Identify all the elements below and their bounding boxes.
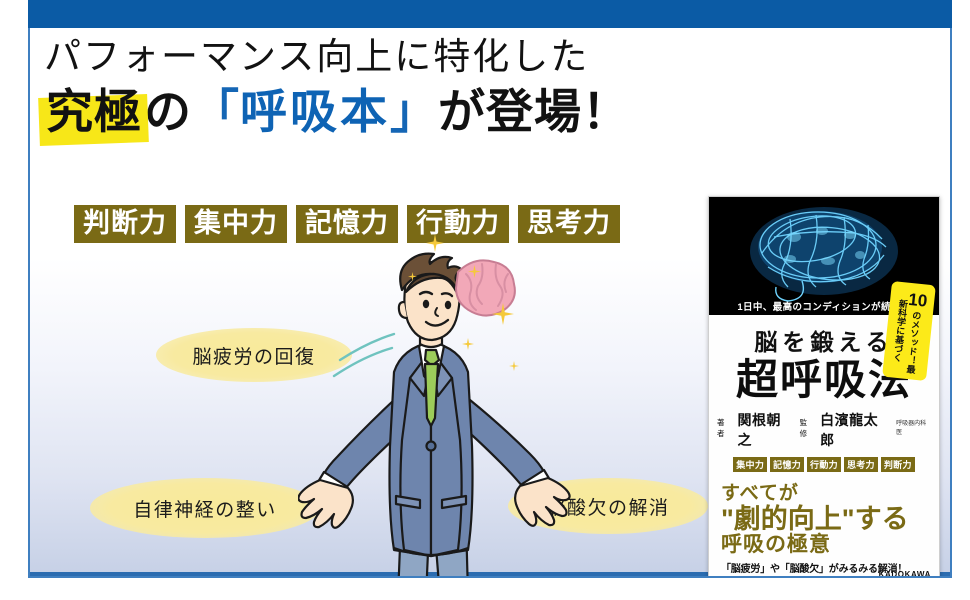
- book-copy-line-2: "劇的向上"する: [721, 505, 931, 533]
- headline-highlight-ultimate: 究極: [44, 84, 144, 140]
- headline-blue-keyword: 呼吸本: [240, 85, 390, 138]
- sparkle-icon: [408, 272, 417, 281]
- skill-tag-row: 判断力 集中力 記憶力 行動力 思考力: [74, 205, 620, 243]
- callout-autonomic-balance: 自律神経の整い: [90, 478, 320, 538]
- skill-tag-judgment: 判断力: [74, 205, 176, 243]
- book-author-name: 関根朝之: [738, 410, 794, 450]
- sparkle-icon: [462, 338, 474, 350]
- book-author-role: 著者: [717, 417, 732, 439]
- book-tag-memory: 記憶力: [770, 457, 804, 472]
- book-method-badge-number: 10: [907, 289, 928, 312]
- sparkle-icon: [426, 234, 444, 252]
- headline-open-bracket: 「: [192, 85, 240, 138]
- book-publisher: KADOKAWA: [879, 570, 931, 578]
- callout-label: 自律神経の整い: [133, 495, 277, 522]
- book-skill-tag-row: 集中力 記憶力 行動力 思考力 判断力: [717, 457, 931, 472]
- book-copy-line-3: 呼吸の極意: [721, 533, 931, 557]
- book-method-badge-rest: のメソッド！: [906, 310, 922, 365]
- businessman-illustration: [298, 250, 598, 578]
- skill-tag-concentration: 集中力: [185, 205, 287, 243]
- headline-particle-no: の: [144, 85, 192, 138]
- headline-line-1: パフォーマンス向上に特化した: [44, 36, 694, 80]
- headline-tail: が登場！: [438, 85, 630, 138]
- sparkle-icon: [468, 265, 481, 278]
- book-tag-concentration: 集中力: [733, 457, 767, 472]
- headline-block: パフォーマンス向上に特化した 究極の「呼吸本」が登場！: [44, 36, 694, 140]
- headline-highlight-text: 究極: [46, 85, 142, 138]
- book-tag-judgment: 判断力: [881, 457, 915, 472]
- book-copy-line-1: すべてが: [721, 478, 931, 505]
- book-tag-action: 行動力: [807, 457, 841, 472]
- book-supervisor-credit: 呼吸器内科医: [896, 418, 931, 436]
- skill-tag-action: 行動力: [407, 205, 509, 243]
- sparkle-icon: [492, 303, 514, 325]
- headline-close-bracket: 」: [390, 85, 438, 138]
- banner-panel: パフォーマンス向上に特化した 究極の「呼吸本」が登場！ 判断力 集中力 記憶力 …: [28, 28, 952, 578]
- book-method-badge-text: 10のメソッド！最新科学に基づく: [889, 286, 928, 377]
- headline-line-2: 究極の「呼吸本」が登場！: [44, 84, 694, 140]
- book-tag-thinking: 思考力: [844, 457, 878, 472]
- book-cover[interactable]: 1日中、最高のコンディションが続く！ 脳を鍛える 超呼吸法 著者 関根朝之 監修…: [708, 196, 940, 578]
- book-author-line: 著者 関根朝之 監修 白濱龍太郎 呼吸器内科医: [717, 410, 931, 450]
- book-supervisor-name: 白濱龍太郎: [820, 410, 890, 450]
- skill-tag-thinking: 思考力: [518, 205, 620, 243]
- banner-root: パフォーマンス向上に特化した 究極の「呼吸本」が登場！ 判断力 集中力 記憶力 …: [0, 0, 970, 600]
- book-copy-block: すべてが "劇的向上"する 呼吸の極意: [717, 478, 931, 557]
- skill-tag-memory: 記憶力: [296, 205, 398, 243]
- sparkle-icon: [509, 361, 519, 371]
- book-supervisor-role: 監修: [800, 417, 815, 439]
- top-blue-band: [28, 0, 952, 28]
